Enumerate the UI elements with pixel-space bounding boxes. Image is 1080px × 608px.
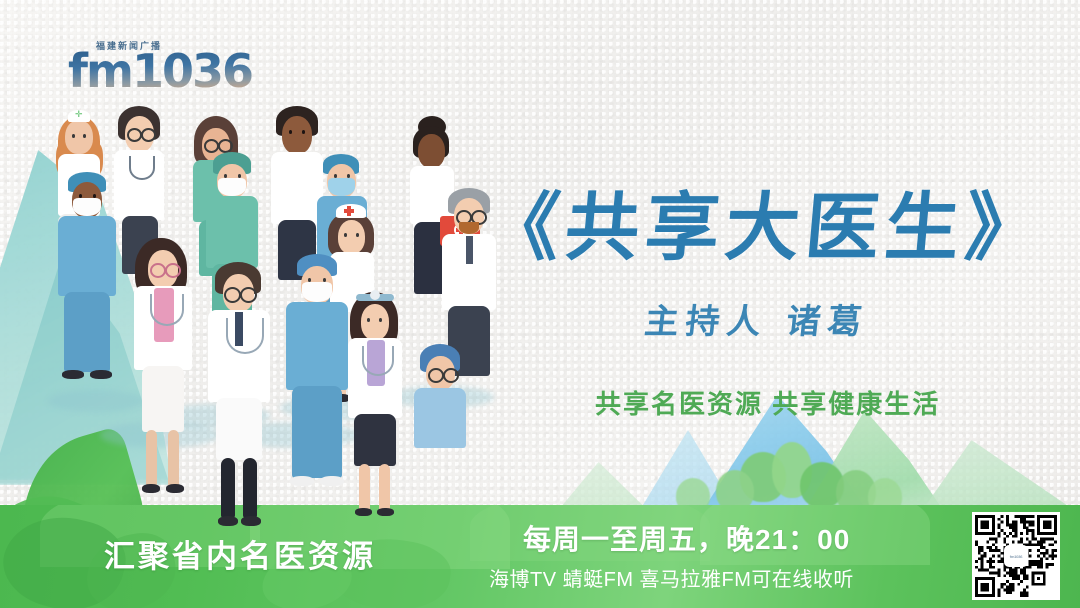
qr-center-logo: fm1036 <box>1004 545 1028 567</box>
medical-staff-group-illustration: ✛ <box>30 104 500 434</box>
station-logo-wordmark: fm1036 <box>68 48 252 94</box>
program-tagline: 共享名医资源 共享健康生活 <box>595 384 940 421</box>
program-title: 《共享大医生》 <box>481 168 1056 275</box>
station-logo[interactable]: 福建新闻广播 fm1036 <box>68 40 236 102</box>
figure-shadow <box>48 390 144 412</box>
qr-code[interactable]: fm1036 <box>972 512 1060 600</box>
bottom-slogan: 汇聚省内名医资源 <box>104 531 376 576</box>
host-line: 主持人 诸葛 <box>642 294 871 343</box>
streaming-platforms: 海博TV 蜻蜓FM 喜马拉雅FM可在线收听 <box>489 563 854 592</box>
broadcast-schedule: 每周一至周五，晚21：00 <box>523 518 850 558</box>
poster-canvas: 福建新闻广播 fm1036 ✛ <box>0 0 1080 608</box>
